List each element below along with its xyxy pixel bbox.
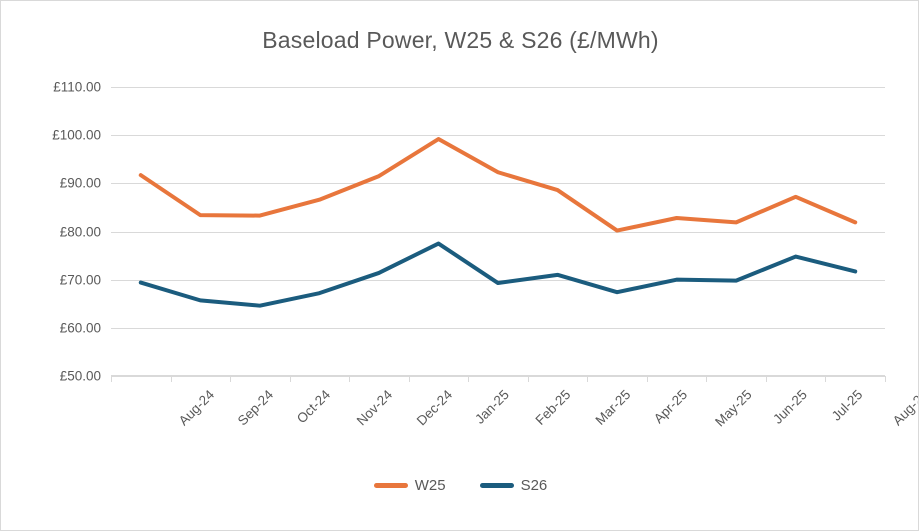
x-axis-tick xyxy=(825,376,826,382)
x-axis-tick xyxy=(706,376,707,382)
x-axis-tick xyxy=(409,376,410,382)
x-axis-tick xyxy=(230,376,231,382)
x-axis-tick xyxy=(885,376,886,382)
series-line-s26 xyxy=(141,244,855,306)
gridline xyxy=(111,376,885,377)
x-axis-tick xyxy=(468,376,469,382)
x-axis-tick-label: Aug-25 xyxy=(890,387,919,428)
chart-legend: W25S26 xyxy=(1,477,919,494)
x-axis-tick xyxy=(587,376,588,382)
x-axis-tick xyxy=(766,376,767,382)
series-layer xyxy=(111,87,885,376)
x-axis-tick-label: Jun-25 xyxy=(770,387,810,427)
x-axis-tick xyxy=(647,376,648,382)
x-axis-tick xyxy=(111,376,112,382)
x-axis-tick-label: Feb-25 xyxy=(533,387,574,428)
legend-swatch-icon xyxy=(374,483,408,488)
x-axis-tick xyxy=(171,376,172,382)
y-axis-tick-label: £80.00 xyxy=(29,224,101,239)
legend-label: S26 xyxy=(521,477,548,494)
x-axis-tick xyxy=(528,376,529,382)
chart-container: Baseload Power, W25 & S26 (£/MWh) £110.0… xyxy=(0,0,919,531)
x-axis-tick-label: Nov-24 xyxy=(354,387,395,428)
y-axis-tick-label: £60.00 xyxy=(29,320,101,335)
x-axis-tick-label: Jan-25 xyxy=(473,387,513,427)
series-line-w25 xyxy=(141,139,855,231)
x-axis-tick-label: Jul-25 xyxy=(828,387,865,424)
x-axis-tick-label: Oct-24 xyxy=(294,387,333,426)
legend-label: W25 xyxy=(415,477,446,494)
legend-swatch-icon xyxy=(480,483,514,488)
x-axis-tick-label: Aug-24 xyxy=(176,387,217,428)
x-axis-tick-label: Mar-25 xyxy=(592,387,633,428)
y-axis-tick-label: £110.00 xyxy=(29,80,101,95)
legend-item-w25[interactable]: W25 xyxy=(374,477,446,494)
chart-title: Baseload Power, W25 & S26 (£/MWh) xyxy=(1,27,919,54)
y-axis-tick-label: £90.00 xyxy=(29,176,101,191)
y-axis: £110.00£100.00£90.00£80.00£70.00£60.00£5… xyxy=(17,87,101,376)
x-axis-tick-label: May-25 xyxy=(712,387,754,429)
x-axis-tick-label: Dec-24 xyxy=(414,387,455,428)
y-axis-tick-label: £100.00 xyxy=(29,128,101,143)
x-axis-tick-label: Sep-24 xyxy=(235,387,276,428)
x-axis-tick-label: Apr-25 xyxy=(651,387,690,426)
x-axis-tick xyxy=(290,376,291,382)
y-axis-tick-label: £50.00 xyxy=(29,369,101,384)
legend-item-s26[interactable]: S26 xyxy=(480,477,548,494)
x-axis-tick xyxy=(349,376,350,382)
y-axis-tick-label: £70.00 xyxy=(29,272,101,287)
